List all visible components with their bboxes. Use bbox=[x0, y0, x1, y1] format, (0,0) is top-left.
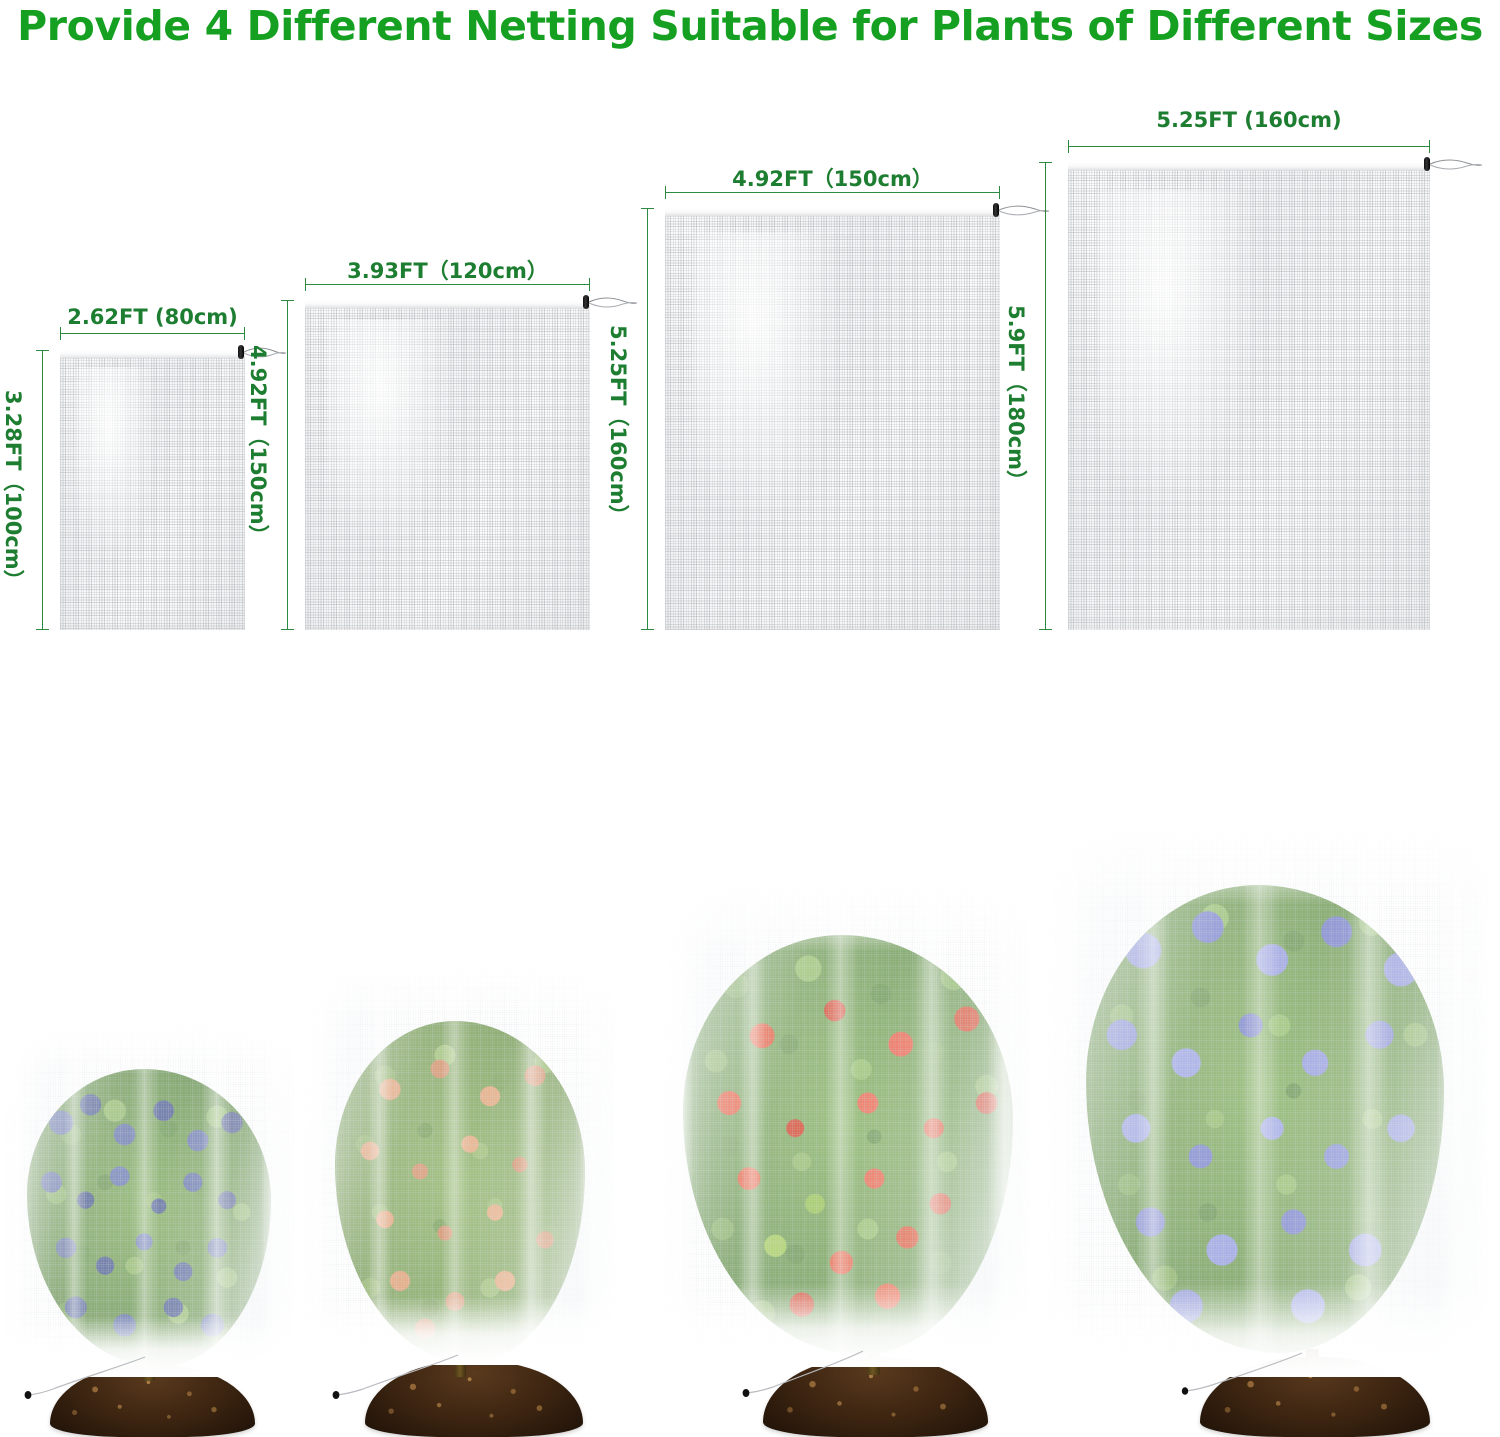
tomatoes-3 bbox=[683, 935, 1013, 1355]
width-label-1: 2.62FT (80cm) bbox=[60, 305, 245, 329]
berry-clusters-4 bbox=[1086, 885, 1444, 1353]
height-label-1: 3.28FT（100cm） bbox=[0, 390, 29, 591]
covered-plant-2-peach bbox=[305, 957, 615, 1437]
covered-plant-examples bbox=[0, 690, 1500, 1437]
width-label-3: 4.92FT（150cm） bbox=[655, 163, 1010, 193]
height-label-2: 4.92FT（150cm） bbox=[244, 345, 274, 546]
plant-foliage-4 bbox=[1086, 885, 1444, 1353]
cover-crown-2 bbox=[302, 955, 618, 1020]
mesh-panel-3 bbox=[665, 208, 1000, 630]
cord-4 bbox=[1428, 156, 1484, 174]
width-label-2: 3.93FT（120cm） bbox=[295, 255, 600, 285]
height-dimension-line-3 bbox=[647, 208, 648, 630]
netting-bag-3: 4.92FT（150cm） 5.25FT（160cm） bbox=[610, 0, 1040, 690]
mesh-panel-4 bbox=[1068, 162, 1430, 630]
height-dimension-line-1 bbox=[42, 350, 43, 630]
mesh-panel-2 bbox=[305, 300, 590, 630]
drawstring-4 bbox=[1424, 156, 1480, 174]
plant-foliage-3 bbox=[683, 935, 1013, 1355]
covered-plant-3-tomato bbox=[665, 875, 1030, 1437]
infographic-page: Provide 4 Different Netting Suitable for… bbox=[0, 0, 1500, 1437]
base-drawstring-3 bbox=[741, 1347, 871, 1401]
netting-bag-2: 3.93FT（120cm） 4.92FT（150cm） bbox=[250, 0, 650, 690]
height-dimension-line-2 bbox=[287, 300, 288, 630]
base-drawstring-4 bbox=[1180, 1349, 1310, 1399]
netting-bag-4: 5.25FT (160cm) 5.9FT（180cm） bbox=[1000, 0, 1500, 690]
height-label-4: 5.9FT（180cm） bbox=[1002, 305, 1032, 491]
base-drawstring-2 bbox=[331, 1351, 466, 1403]
blueberries-1 bbox=[27, 1069, 271, 1367]
plant-foliage-1 bbox=[27, 1069, 271, 1367]
width-dimension-line-4 bbox=[1068, 146, 1430, 147]
covered-plant-4-berry-shrub bbox=[1048, 817, 1488, 1437]
netting-size-diagrams: 2.62FT (80cm) 3.28FT（100cm） 3.93FT（120cm… bbox=[0, 0, 1500, 690]
height-label-3: 5.25FT（160cm） bbox=[604, 325, 634, 526]
cover-crown-1 bbox=[2, 1015, 298, 1073]
height-dimension-line-4 bbox=[1045, 162, 1046, 630]
peaches-2 bbox=[335, 1021, 585, 1363]
covered-plant-1-blueberry bbox=[5, 1017, 295, 1437]
plant-foliage-2 bbox=[335, 1021, 585, 1363]
mesh-panel-1 bbox=[60, 350, 245, 630]
base-drawstring-1 bbox=[23, 1353, 153, 1403]
width-dimension-line-1 bbox=[60, 333, 245, 334]
width-label-4: 5.25FT (160cm) bbox=[1058, 108, 1440, 132]
